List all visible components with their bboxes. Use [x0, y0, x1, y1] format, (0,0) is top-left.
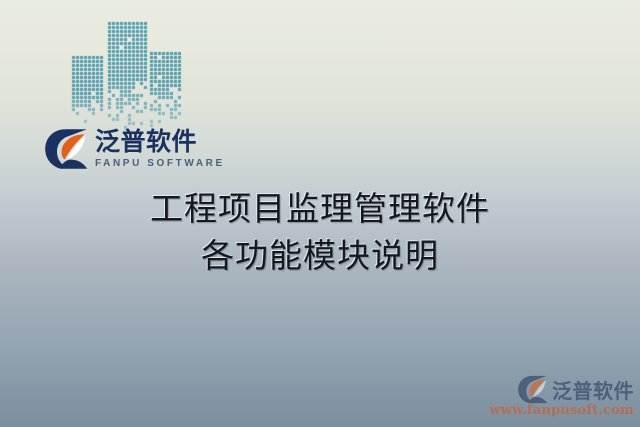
- watermark-logo-row: 泛普软件: [489, 375, 634, 404]
- presentation-slide: 泛普软件 FANPU SOFTWARE 工程项目监理管理软件 各功能模块说明 泛…: [0, 0, 640, 427]
- slide-title: 工程项目监理管理软件 各功能模块说明: [0, 186, 640, 280]
- slide-title-line-2: 各功能模块说明: [0, 233, 640, 280]
- brand-name-cn: 泛普软件: [95, 129, 225, 155]
- fanpu-logo-mark: [44, 128, 88, 170]
- brand-name-en: FANPU SOFTWARE: [95, 158, 225, 169]
- slide-title-line-1: 工程项目监理管理软件: [0, 186, 640, 233]
- pixel-skyline-graphic: [66, 18, 188, 130]
- watermark: 泛普软件 www.fanpusoft.com: [489, 375, 634, 418]
- pixel-skyline-canvas: [66, 18, 188, 130]
- brand-text-block: 泛普软件 FANPU SOFTWARE: [95, 129, 225, 169]
- watermark-url: www.fanpusoft.com: [489, 403, 634, 418]
- watermark-name-cn: 泛普软件: [552, 375, 634, 404]
- fanpu-logo-mark-watermark: [517, 375, 548, 404]
- brand-logo: 泛普软件 FANPU SOFTWARE: [44, 128, 225, 170]
